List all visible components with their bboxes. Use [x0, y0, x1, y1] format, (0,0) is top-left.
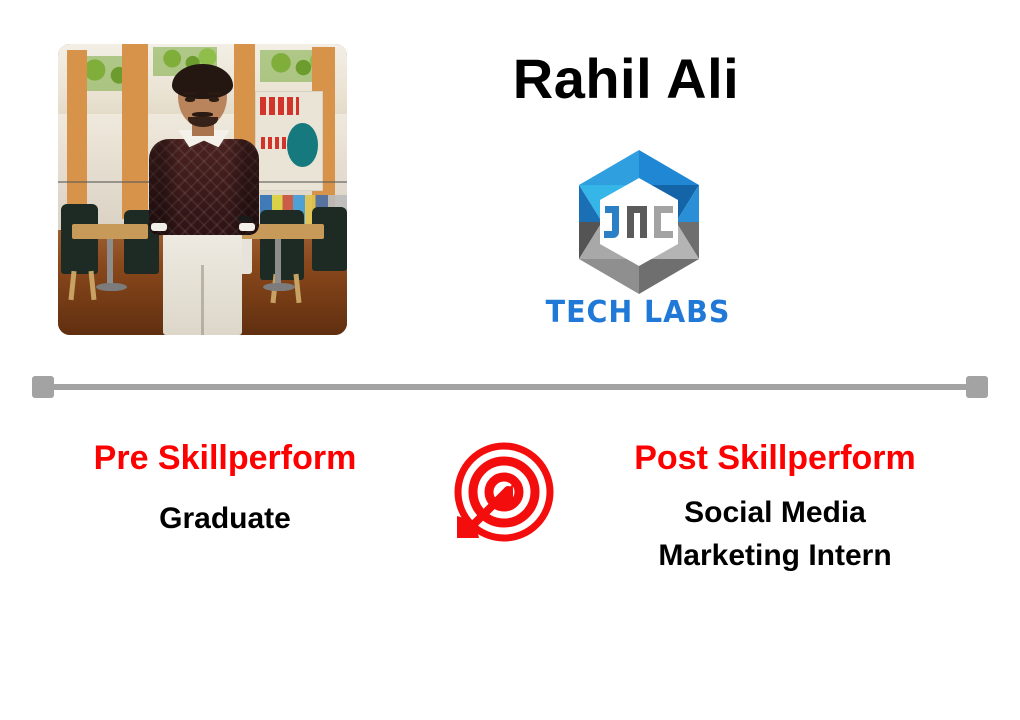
pre-skillperform-body: Graduate: [20, 500, 430, 538]
photo-person-eyebrow: [208, 92, 221, 95]
divider-handle-right[interactable]: [966, 376, 988, 398]
photo-person-cuff: [239, 223, 255, 231]
logo-wordmark: TECH LABS: [543, 295, 733, 330]
post-skillperform-body-line2: Marketing Intern: [570, 537, 980, 575]
photo-person-cuff: [151, 223, 167, 231]
company-logo: TECH LABS: [538, 148, 738, 340]
post-skillperform-column: Post Skillperform Social Media Marketing…: [570, 438, 980, 575]
portrait-photo[interactable]: [58, 44, 347, 335]
photo-scene: [58, 44, 347, 335]
jnc-hexagon-icon: [572, 148, 706, 296]
photo-person-eye: [185, 97, 195, 101]
page-title: Rahil Ali: [380, 48, 872, 110]
pre-skillperform-title: Pre Skillperform: [20, 438, 430, 478]
photo-person-trousers-seam: [201, 265, 204, 335]
photo-person: [58, 44, 347, 335]
post-skillperform-title: Post Skillperform: [570, 438, 980, 478]
pre-skillperform-column: Pre Skillperform Graduate: [20, 438, 430, 539]
photo-person-eye: [209, 97, 219, 101]
photo-person-hair: [172, 64, 233, 99]
comparison-section: Pre Skillperform Graduate Post Skillperf…: [0, 438, 1020, 638]
slide-canvas: Rahil Ali: [0, 0, 1020, 720]
horizontal-divider[interactable]: [32, 376, 988, 398]
photo-person-eyebrow: [183, 92, 196, 95]
post-skillperform-body-line1: Social Media: [570, 494, 980, 532]
divider-line: [40, 384, 980, 390]
photo-person-watch: [238, 216, 252, 222]
photo-person-moustache: [192, 112, 213, 117]
